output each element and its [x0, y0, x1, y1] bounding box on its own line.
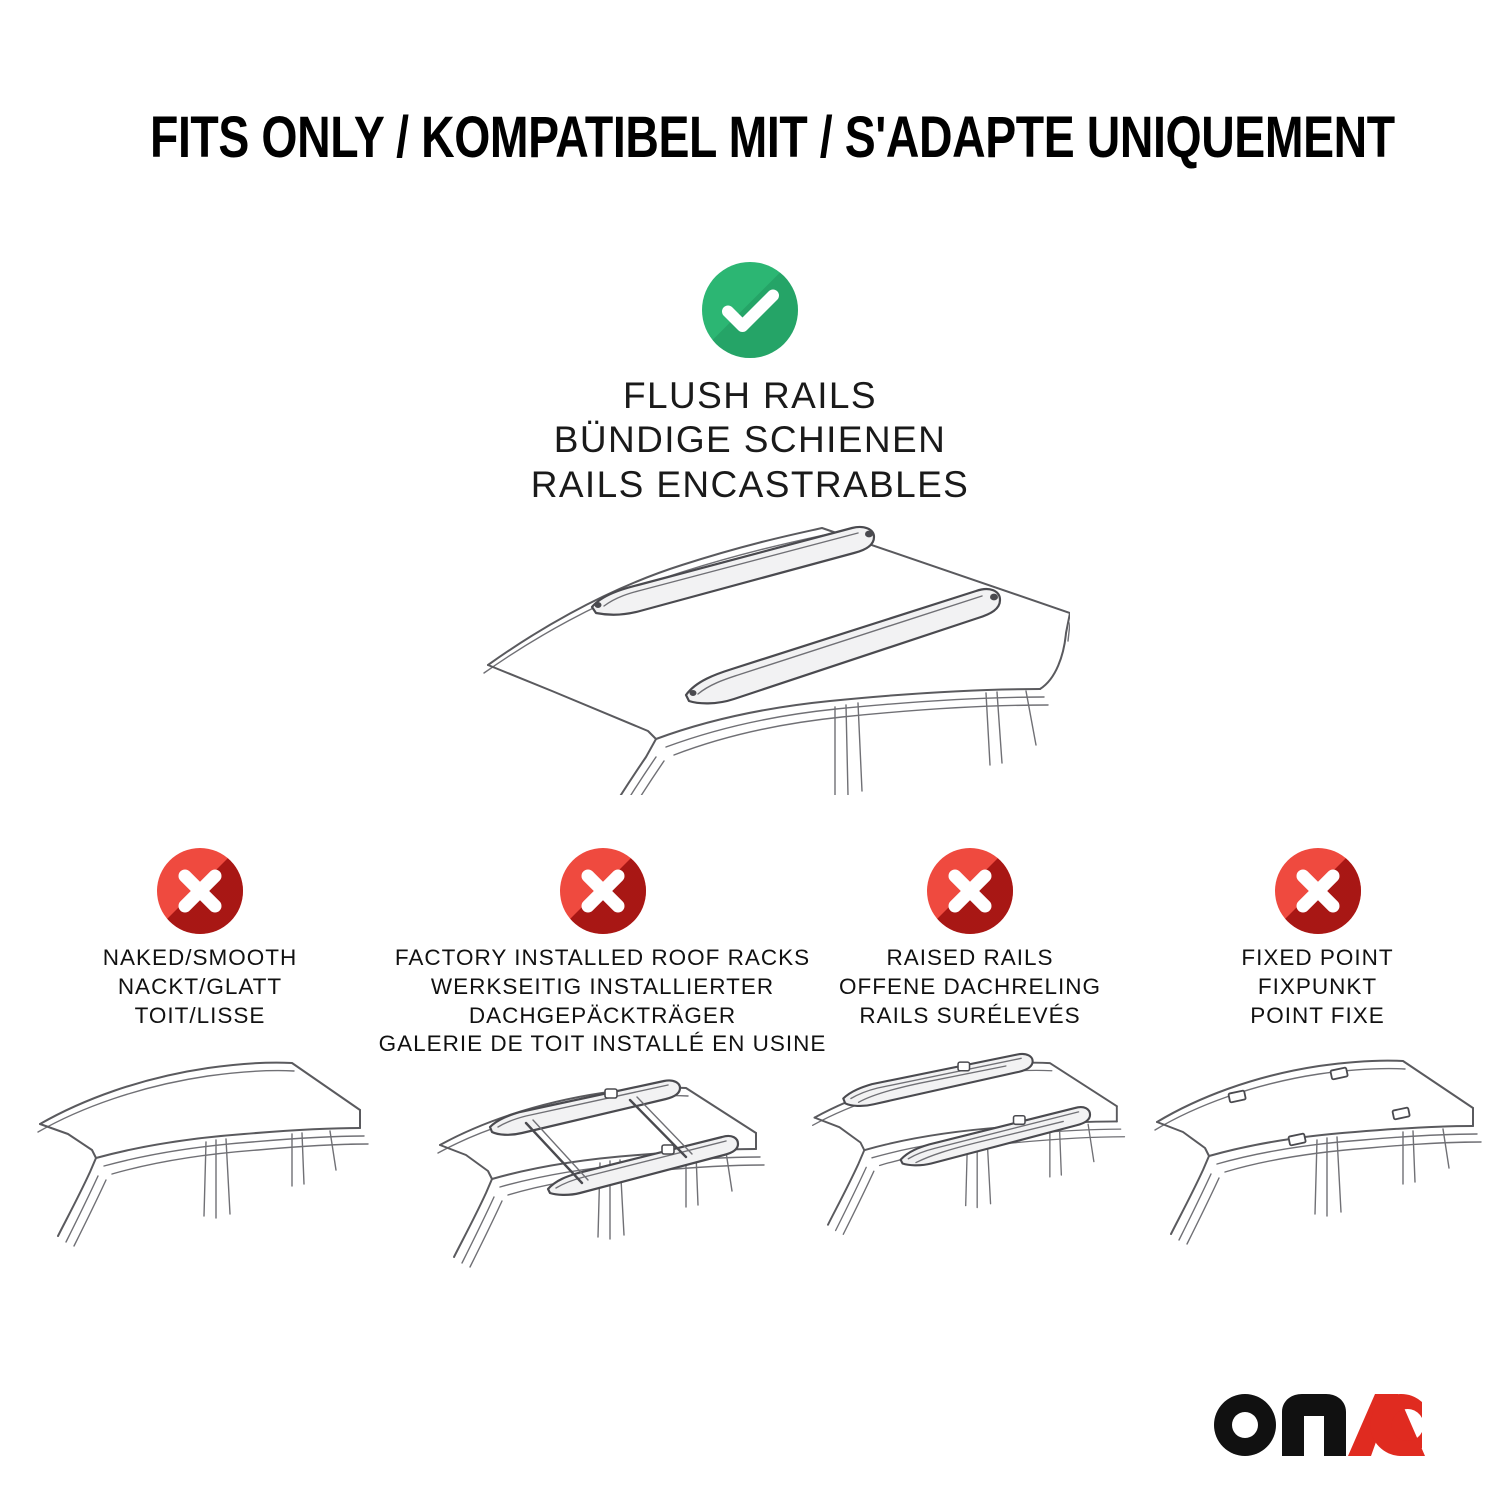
page-title: FITS ONLY / KOMPATIBEL MIT / S'ADAPTE UN…	[150, 104, 1350, 171]
red-x-circle-icon-wrap-3	[1275, 848, 1361, 934]
incompatible-labels-0: NAKED/SMOOTH NACKT/GLATT TOIT/LISSE	[103, 944, 298, 1030]
incompatible-label-3-de: FIXPUNKT	[1241, 973, 1393, 1002]
incompatible-sections: NAKED/SMOOTH NACKT/GLATT TOIT/LISSE	[0, 848, 1500, 1290]
car-roof-factory-racks-illustration	[400, 1075, 805, 1290]
fitment-infographic: FITS ONLY / KOMPATIBEL MIT / S'ADAPTE UN…	[0, 0, 1500, 1500]
compatible-labels: FLUSH RAILS BÜNDIGE SCHIENEN RAILS ENCAS…	[531, 374, 970, 507]
incompatible-label-0-fr: TOIT/LISSE	[103, 1002, 298, 1031]
red-x-circle-icon	[157, 848, 243, 934]
incompatible-label-1-en: FACTORY INSTALLED ROOF RACKS	[379, 944, 827, 973]
red-x-circle-icon	[927, 848, 1013, 934]
compatible-label-en: FLUSH RAILS	[531, 374, 970, 418]
incompatible-label-1-fr: GALERIE DE TOIT INSTALLÉ EN USINE	[379, 1030, 827, 1059]
red-x-circle-icon-wrap-2	[927, 848, 1013, 934]
incompatible-label-2-fr: RAILS SURÉLEVÉS	[839, 1002, 1101, 1031]
incompatible-labels-1: FACTORY INSTALLED ROOF RACKS WERKSEITIG …	[379, 944, 827, 1059]
incompatible-labels-2: RAISED RAILS OFFENE DACHRELING RAILS SUR…	[839, 944, 1101, 1030]
car-roof-flush-rails-illustration	[470, 495, 1070, 795]
red-x-circle-icon-wrap-0	[157, 848, 243, 934]
incompatible-label-1-de-a: WERKSEITIG INSTALLIERTER	[379, 973, 827, 1002]
incompatible-column-raised-rails: RAISED RAILS OFFENE DACHRELING RAILS SUR…	[805, 848, 1135, 1290]
red-x-circle-icon	[560, 848, 646, 934]
car-roof-naked-smooth-illustration	[0, 1046, 400, 1276]
incompatible-label-0-de: NACKT/GLATT	[103, 973, 298, 1002]
incompatible-column-naked-smooth: NAKED/SMOOTH NACKT/GLATT TOIT/LISSE	[0, 848, 400, 1290]
car-roof-raised-rails-illustration	[805, 1046, 1135, 1261]
incompatible-column-factory-racks: FACTORY INSTALLED ROOF RACKS WERKSEITIG …	[400, 848, 805, 1290]
incompatible-label-1-de-b: DACHGEPÄCKTRÄGER	[379, 1002, 827, 1031]
incompatible-label-2-en: RAISED RAILS	[839, 944, 1101, 973]
red-x-circle-icon	[1275, 848, 1361, 934]
green-check-circle-icon	[702, 262, 798, 358]
incompatible-labels-3: FIXED POINT FIXPUNKT POINT FIXE	[1241, 944, 1393, 1030]
omac-logo	[1212, 1392, 1440, 1458]
green-check-circle-icon-wrap	[702, 262, 798, 358]
compatible-label-de: BÜNDIGE SCHIENEN	[531, 418, 970, 462]
incompatible-column-fixed-point: FIXED POINT FIXPUNKT POINT FIXE	[1135, 848, 1500, 1290]
incompatible-label-3-fr: POINT FIXE	[1241, 1002, 1393, 1031]
car-roof-fixed-point-illustration	[1135, 1046, 1500, 1261]
compatible-section: FLUSH RAILS BÜNDIGE SCHIENEN RAILS ENCAS…	[0, 262, 1500, 507]
incompatible-label-3-en: FIXED POINT	[1241, 944, 1393, 973]
red-x-circle-icon-wrap-1	[560, 848, 646, 934]
incompatible-label-0-en: NAKED/SMOOTH	[103, 944, 298, 973]
incompatible-label-2-de: OFFENE DACHRELING	[839, 973, 1101, 1002]
